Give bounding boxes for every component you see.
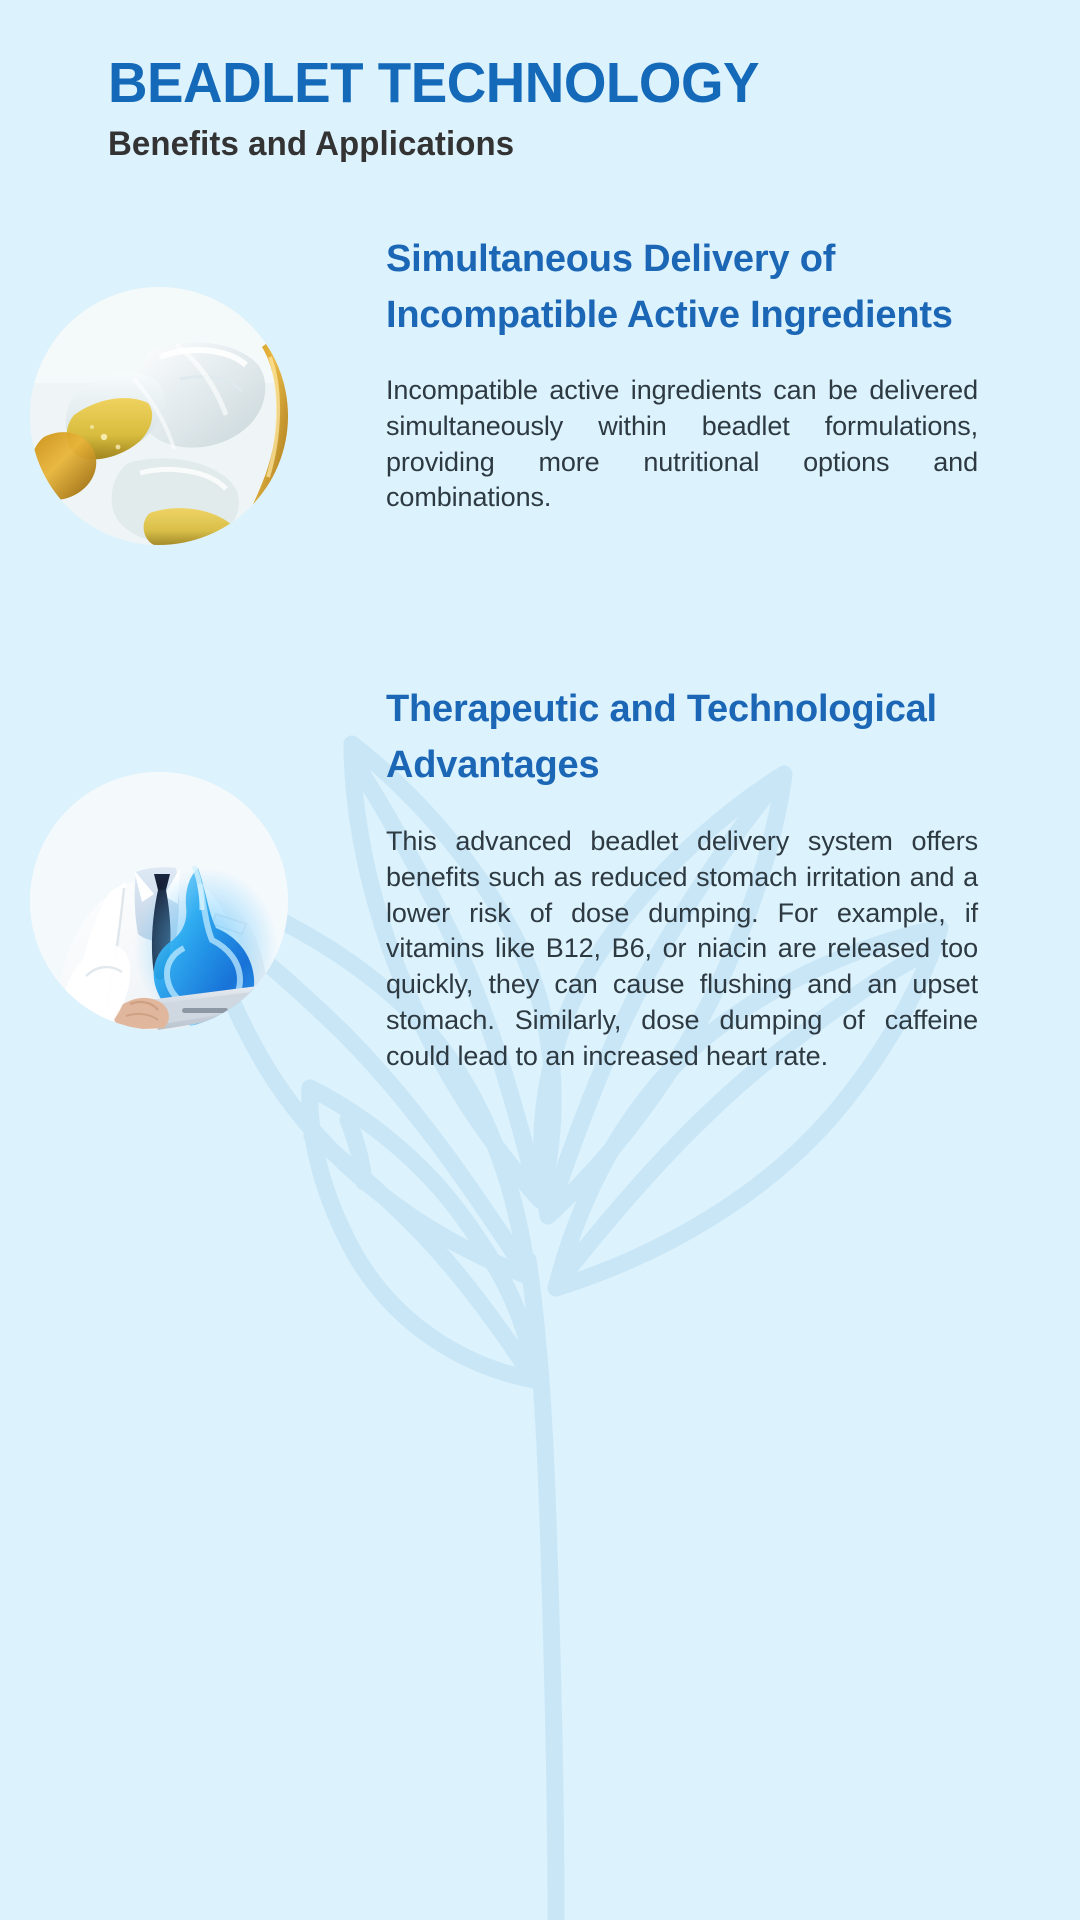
section-1-heading: Simultaneous Delivery of Incompatible Ac… [386,232,978,344]
section-2-text: This advanced beadlet delivery system of… [386,824,978,1075]
header: BEADLET TECHNOLOGY Benefits and Applicat… [108,52,786,164]
section-1-text: Incompatible active ingredients can be d… [386,373,978,517]
page-subtitle: Benefits and Applications [108,125,766,164]
section-2-body: Therapeutic and Technological Advantages… [386,682,978,1075]
section-2-heading: Therapeutic and Technological Advantages [386,682,978,794]
section-1-body: Simultaneous Delivery of Incompatible Ac… [386,232,978,516]
page-title: BEADLET TECHNOLOGY [108,52,759,116]
doctor-stomach-photo [30,772,288,1030]
laboratory-glassware-photo [30,287,288,545]
